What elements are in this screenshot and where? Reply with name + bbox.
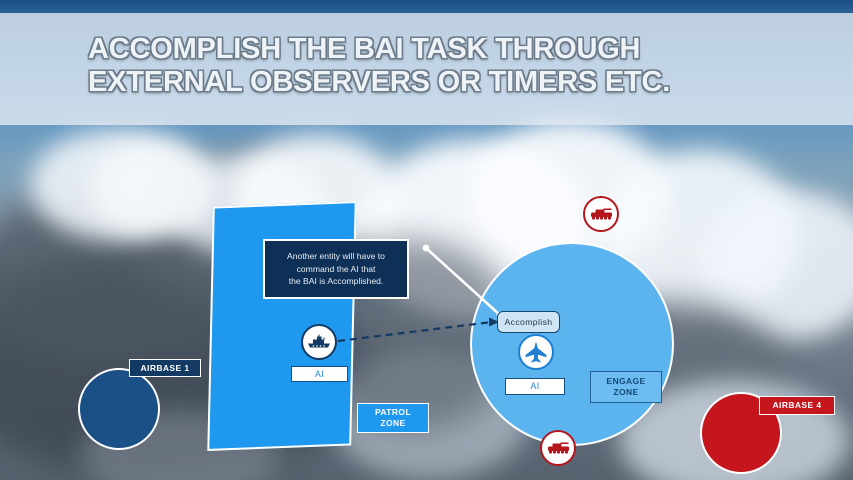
airbase-1-marker[interactable] bbox=[78, 368, 160, 450]
title-banner: ACCOMPLISH THE BAI TASK THROUGH EXTERNAL… bbox=[0, 13, 853, 125]
patrol-zone-label-text: PATROL ZONE bbox=[375, 407, 411, 429]
callout-box: Another entity will have to command the … bbox=[263, 239, 409, 299]
top-sky-strip bbox=[0, 0, 853, 13]
naval-ship-label-text: AI bbox=[315, 369, 324, 380]
callout-text: Another entity will have to command the … bbox=[287, 250, 385, 288]
naval-ship-icon bbox=[307, 334, 331, 350]
accomplish-label: Accomplish bbox=[505, 317, 553, 328]
accomplish-command-chip[interactable]: Accomplish bbox=[497, 311, 560, 333]
fighter-jet-label-text: AI bbox=[530, 381, 539, 392]
airbase-1-label-text: AIRBASE 1 bbox=[141, 363, 190, 374]
fighter-jet-label: AI bbox=[505, 378, 565, 395]
naval-ship-label: AI bbox=[291, 366, 348, 382]
armored-vehicle-icon bbox=[589, 206, 614, 222]
patrol-zone-label: PATROL ZONE bbox=[357, 403, 429, 433]
airbase-1-label: AIRBASE 1 bbox=[129, 359, 201, 377]
page-title: ACCOMPLISH THE BAI TASK THROUGH EXTERNAL… bbox=[88, 33, 788, 99]
fighter-jet-unit[interactable] bbox=[518, 334, 554, 370]
airbase-4-label: AIRBASE 4 bbox=[759, 396, 835, 415]
hostile-armor-north-unit[interactable] bbox=[583, 196, 619, 232]
engage-zone-label-text: ENGAGE ZONE bbox=[606, 376, 645, 398]
fighter-jet-icon bbox=[524, 340, 548, 364]
engage-zone-area[interactable] bbox=[470, 242, 674, 446]
airbase-4-label-text: AIRBASE 4 bbox=[773, 400, 822, 411]
slide-canvas: ACCOMPLISH THE BAI TASK THROUGH EXTERNAL… bbox=[0, 0, 853, 480]
hostile-armor-south-unit[interactable] bbox=[540, 430, 576, 466]
engage-zone-label: ENGAGE ZONE bbox=[590, 371, 662, 403]
naval-ship-unit[interactable] bbox=[301, 324, 337, 360]
armored-vehicle-icon bbox=[546, 440, 571, 456]
